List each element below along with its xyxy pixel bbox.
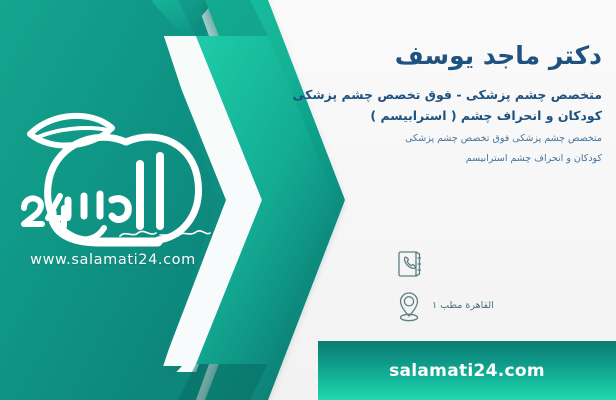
- footer-bar[interactable]: salamati24.com: [318, 341, 616, 400]
- phonebook-icon: [394, 247, 424, 281]
- leaf-icon: [30, 116, 112, 146]
- specialty-line-1: متخصص چشم پزشکی - فوق تخصص چشم پزشکی: [272, 85, 602, 106]
- map-pin-icon: [394, 289, 424, 323]
- specialty-line-2: کودکان و انحراف چشم ( استرابیسم ): [272, 106, 602, 127]
- contact-list: القاهرة مطب ۱: [394, 246, 594, 330]
- logo-website: www.salamati24.com: [8, 252, 218, 268]
- specialty-sub-line-2: کودکان و انحراف چشم استرابیسم: [272, 150, 602, 168]
- location-text: القاهرة مطب ۱: [432, 301, 494, 311]
- doctor-info-block: دکتر ماجد يوسف متخصص چشم پزشکی - فوق تخص…: [272, 40, 602, 168]
- salamati24-logo: بـراحتی یـک‌لبخنـد www.salamati24.com: [8, 104, 218, 274]
- logo-tagline-script: [116, 224, 212, 242]
- specialty-sub-line-1: متخصص چشم پزشکی فوق تخصص چشم پزشکی: [272, 130, 602, 148]
- contact-row-phone[interactable]: [394, 246, 594, 282]
- doctor-name: دکتر ماجد يوسف: [272, 40, 602, 71]
- business-card: بـراحتی یـک‌لبخنـد www.salamati24.com دک…: [0, 0, 616, 400]
- contact-row-location[interactable]: القاهرة مطب ۱: [394, 288, 594, 324]
- footer-website: salamati24.com: [389, 361, 545, 381]
